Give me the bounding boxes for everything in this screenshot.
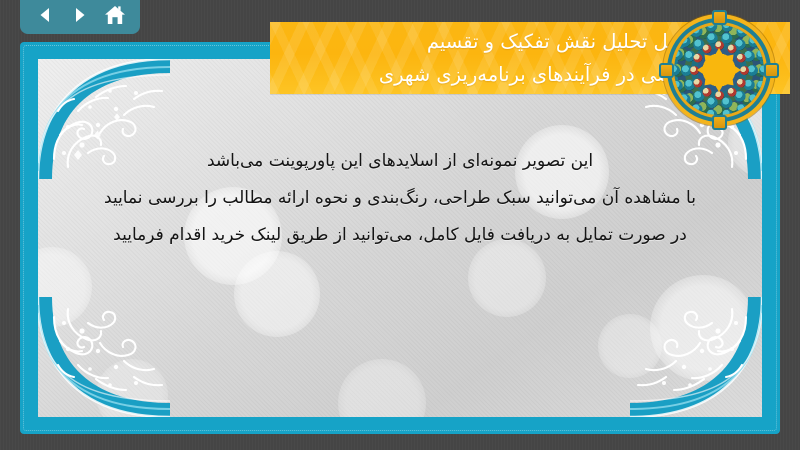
back-triangle-icon (35, 5, 55, 25)
bokeh-circle (234, 251, 320, 337)
slide-frame: این تصویر نمونه‌ای از اسلایدهای این پاور… (20, 42, 780, 434)
back-button[interactable] (31, 2, 59, 28)
forward-button[interactable] (66, 2, 94, 28)
bokeh-circle (338, 359, 426, 417)
body-line-3: در صورت تمایل به دریافت فایل کامل، می‌تو… (62, 217, 738, 254)
filigree-corner-bottom-right (630, 297, 762, 417)
filigree-corner-bottom-left (38, 297, 170, 417)
body-line-2: با مشاهده آن می‌توانید سبک طراحی، رنگ‌بن… (62, 180, 738, 217)
forward-triangle-icon (70, 5, 90, 25)
body-line-1: این تصویر نمونه‌ای از اسلایدهای این پاور… (62, 143, 738, 180)
slide-body-text: این تصویر نمونه‌ای از اسلایدهای این پاور… (38, 143, 762, 254)
persian-mandala-ornament-icon (663, 14, 775, 126)
title-line-1: کامل تحلیل نقش تفکیک و تقسیم (288, 25, 694, 58)
bokeh-circle (650, 275, 756, 381)
home-icon (104, 5, 126, 26)
bokeh-circle (38, 247, 92, 327)
bokeh-circle (96, 359, 168, 417)
slide-preview-stage: این تصویر نمونه‌ای از اسلایدهای این پاور… (0, 0, 800, 450)
home-button[interactable] (101, 2, 129, 28)
bokeh-circle (598, 314, 662, 378)
slide-canvas: این تصویر نمونه‌ای از اسلایدهای این پاور… (38, 59, 762, 417)
navigation-bar (20, 0, 140, 34)
title-line-2: اراضی در فرآیندهای برنامه‌ریزی شهری (288, 58, 694, 91)
